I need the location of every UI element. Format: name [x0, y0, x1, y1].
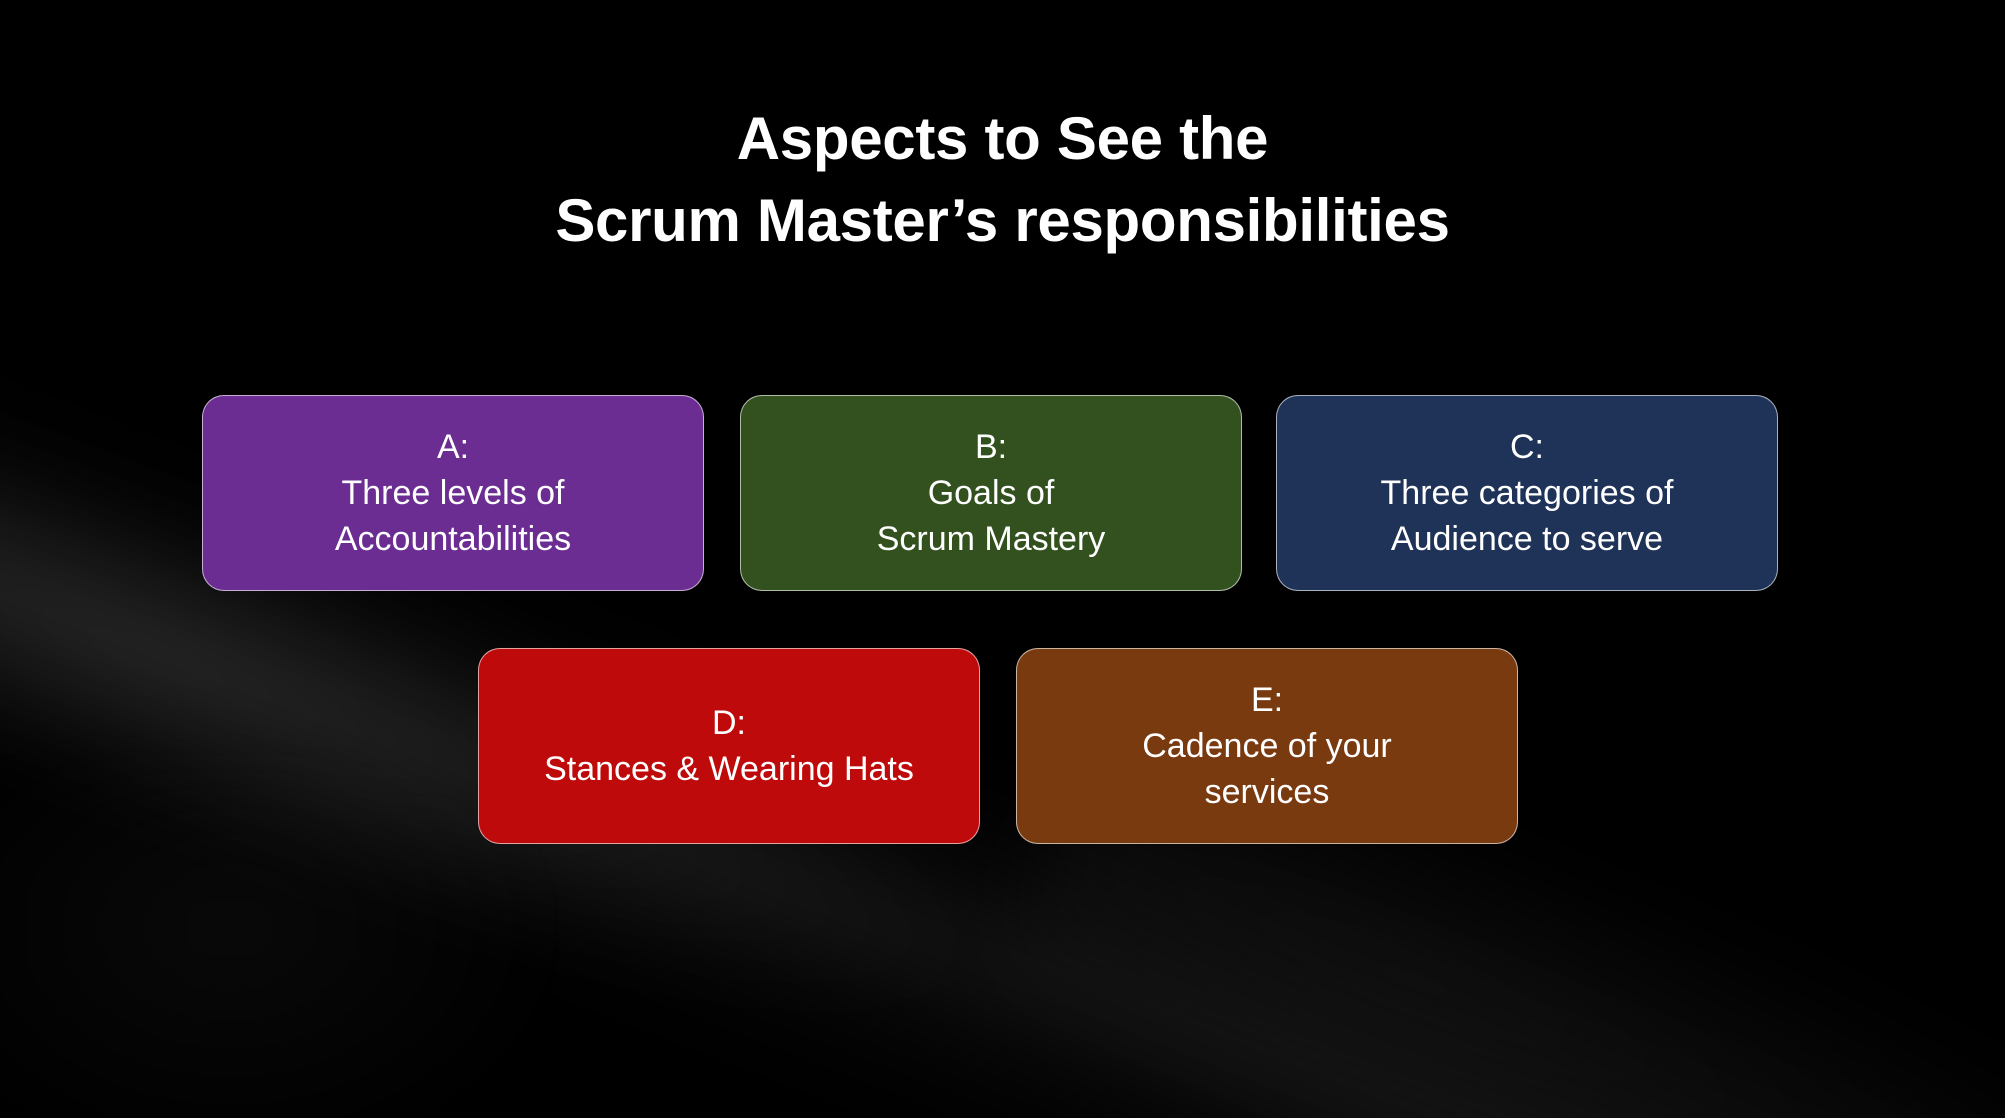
aspect-box-e-label: E: Cadence of your services: [1017, 677, 1517, 815]
aspect-box-d-label: D: Stances & Wearing Hats: [479, 700, 979, 792]
aspect-box-c[interactable]: C: Three categories of Audience to serve: [1276, 395, 1778, 591]
aspect-box-a[interactable]: A: Three levels of Accountabilities: [202, 395, 704, 591]
aspect-box-a-label: A: Three levels of Accountabilities: [203, 424, 703, 562]
aspect-box-c-label: C: Three categories of Audience to serve: [1277, 424, 1777, 562]
slide-title: Aspects to See the Scrum Master’s respon…: [0, 98, 2005, 262]
aspect-box-b[interactable]: B: Goals of Scrum Mastery: [740, 395, 1242, 591]
aspect-box-b-label: B: Goals of Scrum Mastery: [741, 424, 1241, 562]
aspect-box-d[interactable]: D: Stances & Wearing Hats: [478, 648, 980, 844]
aspect-box-e[interactable]: E: Cadence of your services: [1016, 648, 1518, 844]
slide-canvas: Aspects to See the Scrum Master’s respon…: [0, 0, 2005, 1118]
